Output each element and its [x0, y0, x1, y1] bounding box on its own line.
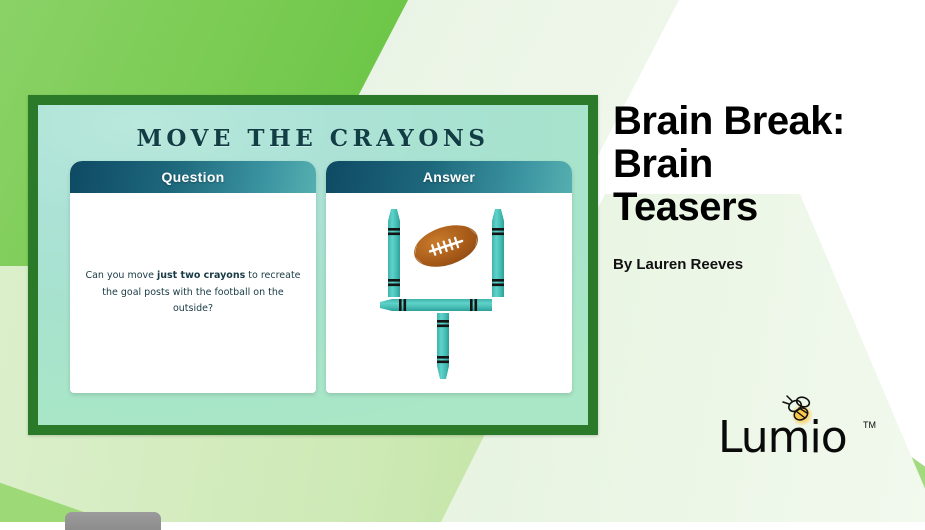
page-title-line-3: Teasers [613, 186, 913, 229]
author-byline: By Lauren Reeves [613, 256, 913, 273]
crayon-goalpost-illustration [374, 201, 524, 386]
bottom-toolbar-tab[interactable] [65, 512, 161, 530]
slide-preview-frame[interactable]: MOVE THE CRAYONS Question Can you move j… [28, 95, 598, 435]
question-card-body: Can you move just two crayons to recreat… [70, 193, 316, 393]
question-text-before: Can you move [85, 270, 157, 281]
answer-card-body [326, 193, 572, 393]
crayon-left [388, 209, 400, 297]
page-title: Brain Break: Brain Teasers [613, 100, 913, 230]
crayon-right [492, 209, 504, 297]
crayon-crossbar [380, 299, 492, 311]
answer-card: Answer [326, 161, 572, 393]
page-title-line-2: Brain [613, 143, 913, 186]
crayon-post [437, 313, 449, 379]
page-title-line-1: Brain Break: [613, 100, 913, 143]
answer-card-header: Answer [326, 161, 572, 193]
question-card-header-label: Question [161, 169, 224, 185]
question-card-header: Question [70, 161, 316, 193]
question-text: Can you move just two crayons to recreat… [70, 268, 316, 318]
lumio-trademark: TM [863, 420, 876, 430]
slide-content: MOVE THE CRAYONS Question Can you move j… [38, 105, 588, 425]
lumio-logo[interactable]: Lumio TM [718, 392, 878, 464]
question-card: Question Can you move just two crayons t… [70, 161, 316, 393]
football-icon [409, 217, 484, 274]
slide-heading: MOVE THE CRAYONS [38, 125, 588, 152]
title-block: Brain Break: Brain Teasers By Lauren Ree… [613, 100, 913, 273]
question-text-bold: just two crayons [157, 270, 245, 281]
answer-card-header-label: Answer [423, 169, 475, 185]
lumio-wordmark: Lumio [718, 416, 847, 460]
